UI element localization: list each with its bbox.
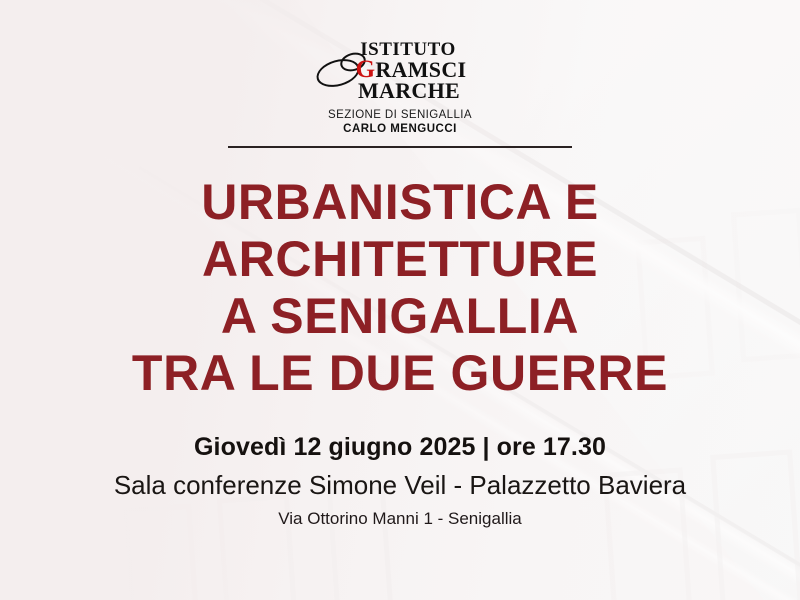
event-address: Via Ottorino Manni 1 - Senigallia xyxy=(0,508,800,529)
page-title: URBANISTICA E ARCHITETTURE A SENIGALLIA … xyxy=(132,174,668,402)
logo-mark: ISTITUTO GRAMSCI MARCHE xyxy=(310,40,490,102)
title-line-3: A SENIGALLIA xyxy=(132,288,668,345)
event-poster: ISTITUTO GRAMSCI MARCHE SEZIONE DI SENIG… xyxy=(0,0,800,600)
organization-logo: ISTITUTO GRAMSCI MARCHE SEZIONE DI SENIG… xyxy=(310,40,490,137)
title-line-2: ARCHITETTURE xyxy=(132,231,668,288)
event-details: Giovedì 12 giugno 2025 | ore 17.30 Sala … xyxy=(0,432,800,529)
logo-line-marche: MARCHE xyxy=(310,79,490,102)
title-line-1: URBANISTICA E xyxy=(132,174,668,231)
title-line-4: TRA LE DUE GUERRE xyxy=(132,345,668,402)
logo-section-label: SEZIONE DI SENIGALLIA xyxy=(310,108,490,122)
event-venue: Sala conferenze Simone Veil - Palazzetto… xyxy=(0,470,800,501)
event-datetime: Giovedì 12 giugno 2025 | ore 17.30 xyxy=(0,432,800,462)
poster-content: ISTITUTO GRAMSCI MARCHE SEZIONE DI SENIG… xyxy=(0,0,800,600)
divider-rule xyxy=(228,146,572,148)
logo-subsection-label: CARLO MENGUCCI xyxy=(310,122,490,137)
